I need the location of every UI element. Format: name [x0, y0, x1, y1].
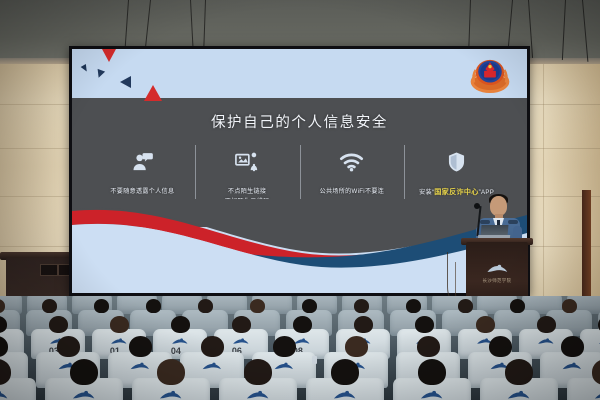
shield-icon [448, 147, 465, 177]
seat-logo-icon [590, 389, 600, 400]
seat-logo-icon [169, 337, 191, 346]
slide-column-3-text: 公共场所的WiFi不要连 [320, 187, 385, 197]
audience-member-head [198, 299, 213, 313]
seat-logo-icon [596, 337, 600, 346]
audience-member-head [70, 359, 98, 385]
audience-member-head [562, 299, 577, 313]
audience-member-head [510, 299, 525, 313]
wall-seam-vertical [543, 64, 544, 319]
audience-member-head [537, 316, 556, 333]
audience-member-head [406, 299, 421, 313]
audience-member-head [49, 316, 68, 333]
phone-screen [312, 356, 317, 364]
audience-member-head [458, 299, 473, 313]
slide-title: 保护自己的个人信息安全 [72, 111, 527, 132]
seat-logo-icon [68, 389, 99, 400]
person-screen-icon [235, 147, 259, 177]
seat-logo-icon [416, 389, 447, 400]
audience-member-head [42, 299, 57, 313]
seat-logo-icon [155, 389, 186, 400]
audience-member-head [273, 336, 296, 357]
speaker-head [490, 196, 507, 216]
audience-member-head [345, 336, 368, 357]
audience-member-head [415, 316, 434, 333]
audience-member-head [302, 299, 317, 313]
seat-logo-icon [230, 337, 252, 346]
audience-member-head [157, 359, 185, 385]
wall-column-right [543, 64, 600, 319]
audience-member-head [331, 359, 359, 385]
seat-logo-icon [199, 361, 225, 372]
door-gap [582, 190, 591, 312]
microphone-icon [474, 203, 480, 209]
seat-logo-icon [242, 389, 273, 400]
triangle-red [102, 49, 116, 62]
audience-member-head [417, 336, 440, 357]
seat-logo-icon [503, 389, 534, 400]
slide-band-top [72, 49, 527, 98]
triangle-navy [120, 76, 131, 88]
seat-logo-icon [535, 337, 557, 346]
auditorium-photo: 保护自己的个人信息安全 不要随意透露个人信息 [0, 0, 600, 400]
audience-member-head [94, 299, 109, 313]
seat-logo-icon [0, 389, 13, 400]
audience-member-head [561, 336, 584, 357]
audience-member-head [354, 316, 373, 333]
seat-number: 04 [171, 346, 181, 356]
seat-logo-icon [108, 337, 130, 346]
triangle-red [144, 85, 162, 101]
audience-area: 05030104060810 [0, 296, 600, 400]
audience-member-head [293, 316, 312, 333]
seat-logo-icon [127, 361, 153, 372]
audience-member-head [489, 336, 512, 357]
audience-member-head [146, 299, 161, 313]
speaker-epaulet [480, 220, 490, 224]
audience-member-head [57, 336, 80, 357]
audience-member-head [232, 316, 251, 333]
audience-member-head [244, 359, 272, 385]
highlight-app-name: 国家反诈中心 [434, 188, 478, 196]
institution-logo-icon [485, 262, 509, 276]
speaker-epaulet [508, 220, 518, 224]
console-slot [40, 264, 58, 276]
audience-member-head [110, 316, 129, 333]
audience-member-head [354, 299, 369, 313]
audience-member-head [505, 359, 533, 385]
audience-member-head [476, 316, 495, 333]
audience-member-head [418, 359, 446, 385]
seat-logo-icon [271, 361, 297, 372]
seat-logo-icon [329, 389, 360, 400]
police-badge-icon [469, 53, 511, 97]
slide-column-1-text: 不要随意透露个人信息 [110, 187, 174, 197]
audience-member-head [171, 316, 190, 333]
wifi-icon [339, 147, 364, 177]
audience-member-head [250, 299, 265, 313]
audience-member-head [201, 336, 224, 357]
seat-logo-icon [559, 361, 585, 372]
person-speech-bubble-icon [131, 147, 154, 177]
audience-member-head [129, 336, 152, 357]
